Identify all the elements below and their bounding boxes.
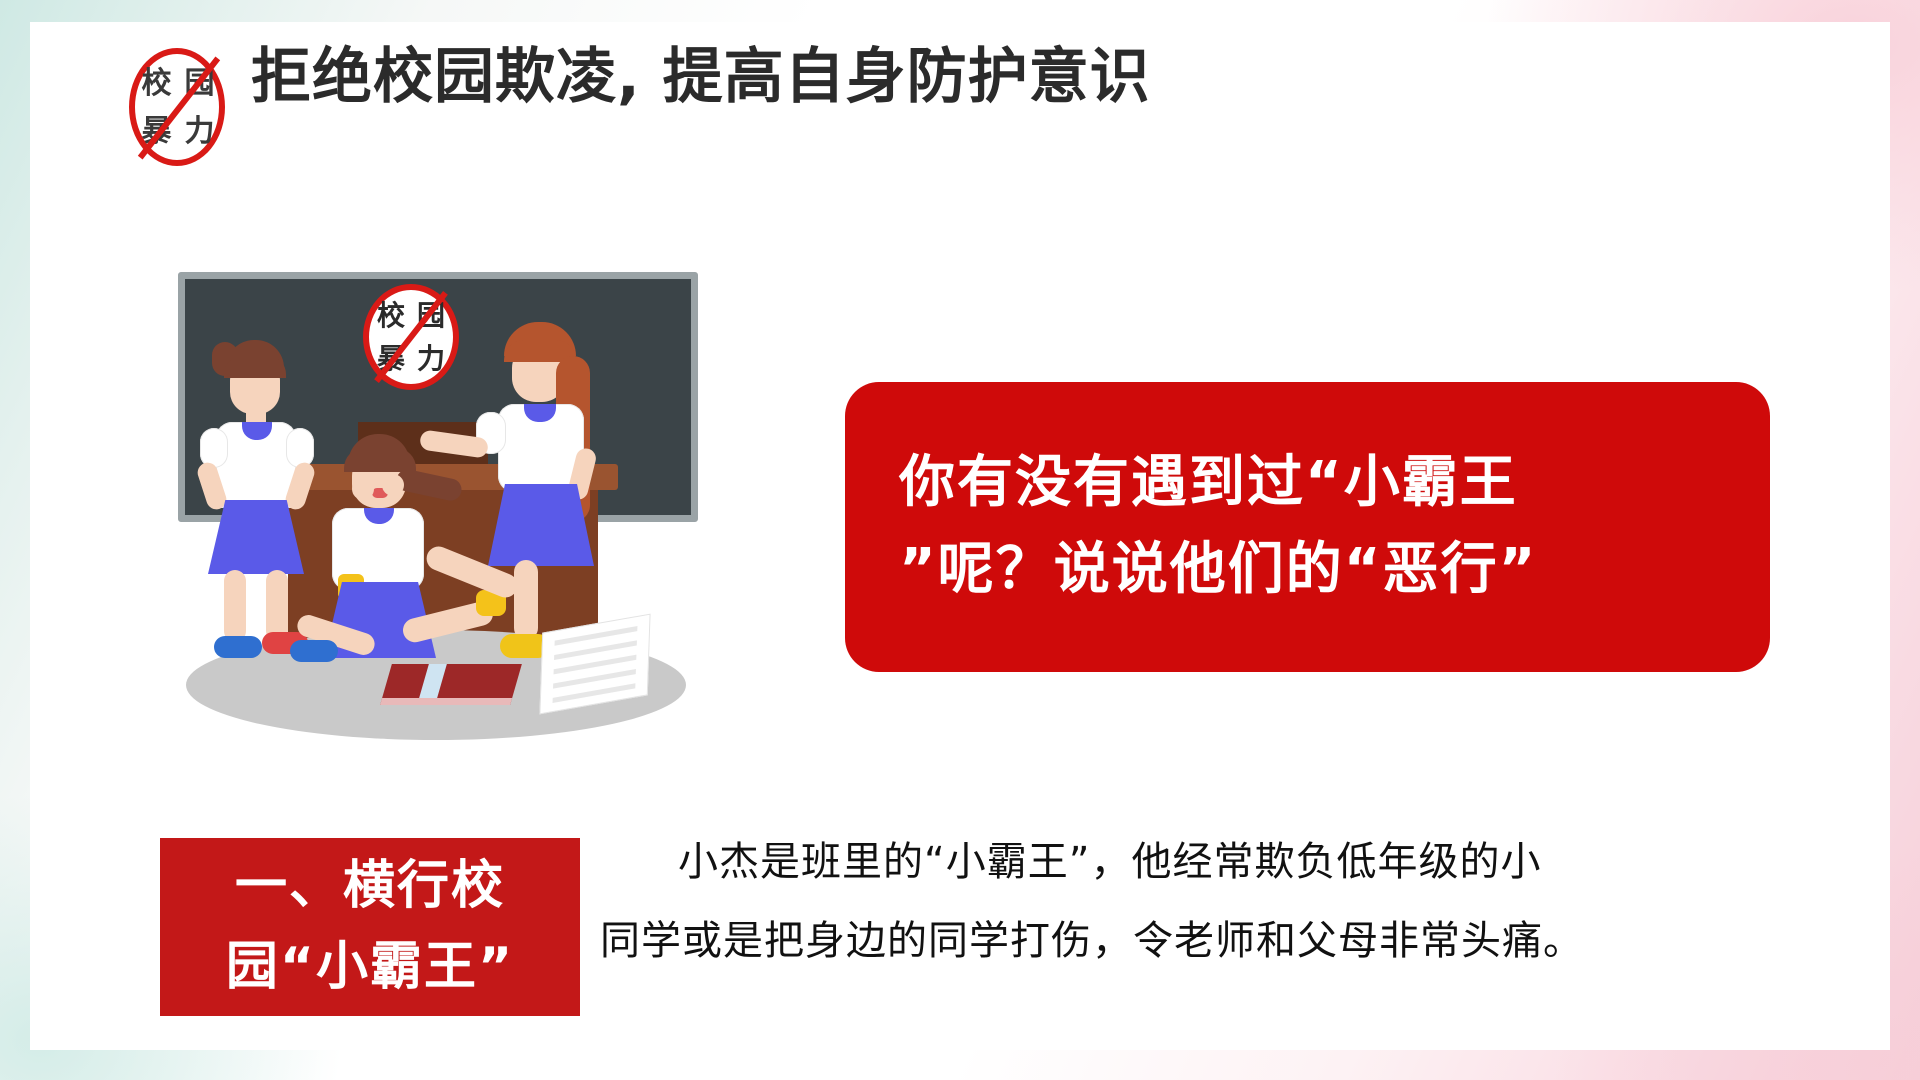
no-school-violence-stamp-icon: 校 园 暴 力	[125, 48, 233, 168]
board-no-violence-icon: 校 园 暴 力	[363, 284, 459, 390]
board-stamp-glyph-4: 力	[411, 337, 451, 380]
title-row: 校 园 暴 力 拒绝校园欺凌, 提高自身防护意识	[125, 42, 1305, 168]
section-tag-line-1: 一、横行校	[235, 846, 505, 927]
question-callout-box: 你有没有遇到过“小霸王 ”呢？说说他们的“恶行”	[845, 382, 1770, 672]
callout-line-1: 你有没有遇到过“小霸王	[899, 440, 1716, 527]
fallen-book	[380, 664, 522, 705]
page-title: 拒绝校园欺凌, 提高自身防护意识	[251, 42, 1151, 113]
stamp-glyph-1: 校	[135, 60, 178, 108]
section-tag-badge: 一、横行校 园“小霸王”	[160, 838, 580, 1016]
callout-line-2: ”呢？说说他们的“恶行”	[899, 527, 1716, 614]
section-tag-line-2: 园“小霸王”	[226, 927, 514, 1008]
body-copy: 小杰是班里的“小霸王”，他经常欺负低年级的小 同学或是把身边的同学打伤，令老师和…	[600, 840, 1790, 964]
board-stamp-glyph-1: 校	[371, 294, 411, 337]
body-paragraph-1: 小杰是班里的“小霸王”，他经常欺负低年级的小	[600, 840, 1790, 885]
stamp-glyph-4: 力	[178, 108, 221, 156]
body-paragraph-2: 同学或是把身边的同学打伤，令老师和父母非常头痛。	[600, 919, 1790, 964]
slide-canvas: 校 园 暴 力 拒绝校园欺凌, 提高自身防护意识 校 园 暴 力	[0, 0, 1920, 1080]
illustration-school-bullying: 校 园 暴 力	[168, 272, 718, 772]
